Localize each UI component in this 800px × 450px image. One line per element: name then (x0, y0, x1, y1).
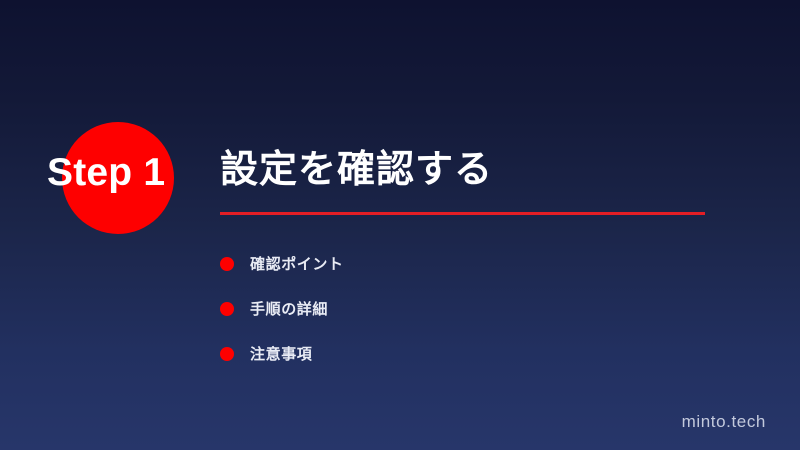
list-item-label: 注意事項 (250, 343, 312, 364)
bullet-dot-icon (220, 347, 234, 361)
list-item: 注意事項 (220, 331, 680, 376)
bullet-dot-icon (220, 302, 234, 316)
bullet-list: 確認ポイント 手順の詳細 注意事項 (220, 241, 680, 376)
list-item-label: 確認ポイント (250, 253, 344, 274)
step-badge-label: Step 1 (47, 150, 165, 196)
bullet-dot-icon (220, 257, 234, 271)
step-badge: Step 1 (47, 118, 247, 230)
list-item: 確認ポイント (220, 241, 680, 286)
list-item-label: 手順の詳細 (250, 298, 328, 319)
presentation-slide: Step 1 設定を確認する 確認ポイント 手順の詳細 注意事項 minto.t… (0, 0, 800, 450)
footer-brand-label: minto.tech (682, 412, 766, 432)
list-item: 手順の詳細 (220, 286, 680, 331)
slide-title: 設定を確認する (220, 146, 720, 194)
title-underline-rule (220, 212, 705, 215)
headline-block: 設定を確認する (220, 146, 720, 215)
